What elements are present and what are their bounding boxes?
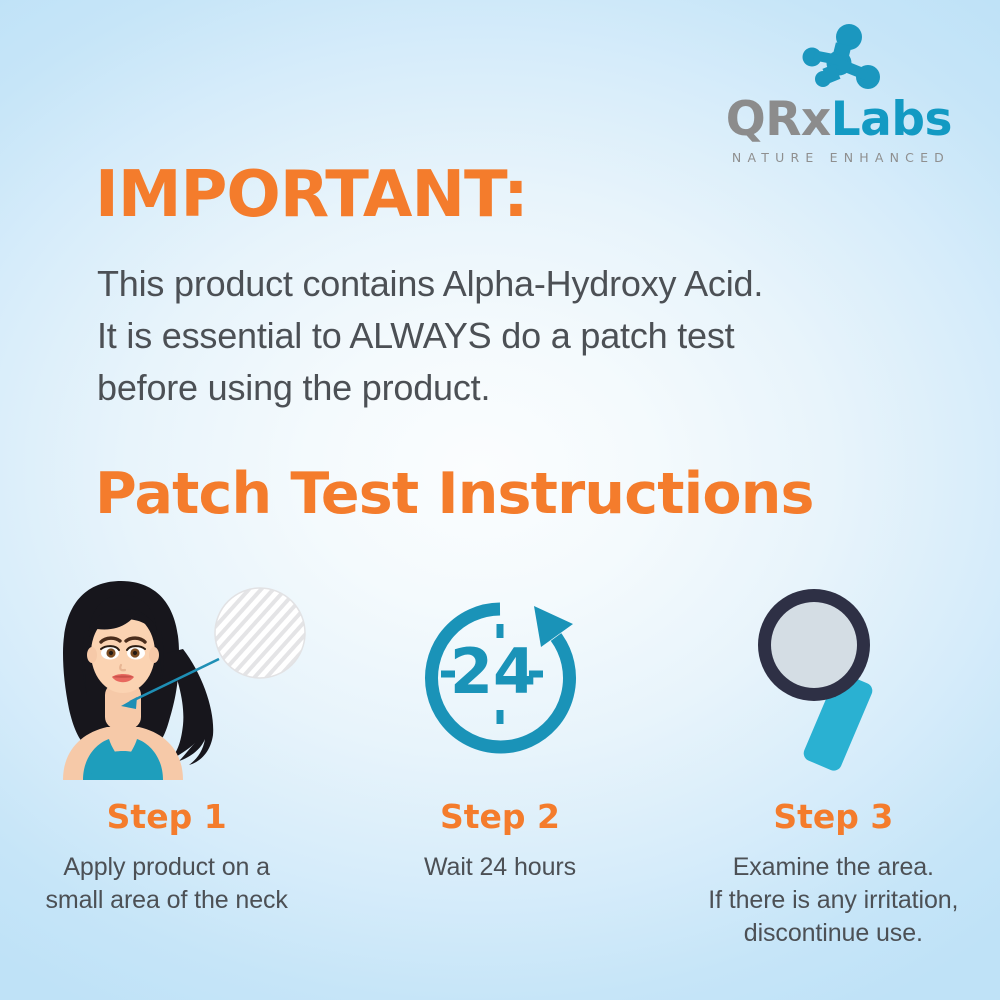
step-2-title: Step 2 xyxy=(440,800,560,833)
molecule-icon xyxy=(794,22,890,94)
woman-neck-cotton-pad-illustration xyxy=(17,575,317,780)
brand-tagline: NATURE ENHANCED xyxy=(682,150,950,165)
step-3-title: Step 3 xyxy=(773,800,893,833)
brand-name-primary: QRx xyxy=(726,92,831,147)
clock-label: 24 xyxy=(450,635,536,708)
steps-row: Step 1 Apply product on a small area of … xyxy=(0,575,1000,950)
important-heading: IMPORTANT: xyxy=(95,163,528,227)
step-item-2: 24 Step 2 Wait 24 hours xyxy=(333,575,666,884)
clock-24-hours-icon: 24 xyxy=(405,588,595,768)
brand-wordmark: QRxLabs xyxy=(682,96,952,143)
step-item-3: Step 3 Examine the area. If there is any… xyxy=(667,575,1000,950)
brand-name-secondary: Labs xyxy=(831,92,952,147)
step-2-artwork: 24 xyxy=(405,575,595,780)
step-2-description: Wait 24 hours xyxy=(424,851,576,884)
step-1-title: Step 1 xyxy=(107,800,227,833)
step-item-1: Step 1 Apply product on a small area of … xyxy=(0,575,333,917)
step-1-artwork xyxy=(17,575,317,780)
step-1-description: Apply product on a small area of the nec… xyxy=(45,851,287,917)
step-3-description: Examine the area. If there is any irrita… xyxy=(708,851,958,950)
magnifying-glass-icon xyxy=(736,583,931,773)
brand-logo: QRxLabs NATURE ENHANCED xyxy=(682,22,952,165)
notice-line-2: It is essential to ALWAYS do a patch tes… xyxy=(97,310,937,362)
notice-line-3: before using the product. xyxy=(97,362,937,414)
notice-body: This product contains Alpha-Hydroxy Acid… xyxy=(97,258,937,413)
step-3-artwork xyxy=(736,575,931,780)
notice-line-1: This product contains Alpha-Hydroxy Acid… xyxy=(97,258,937,310)
page-title: Patch Test Instructions xyxy=(95,466,814,523)
